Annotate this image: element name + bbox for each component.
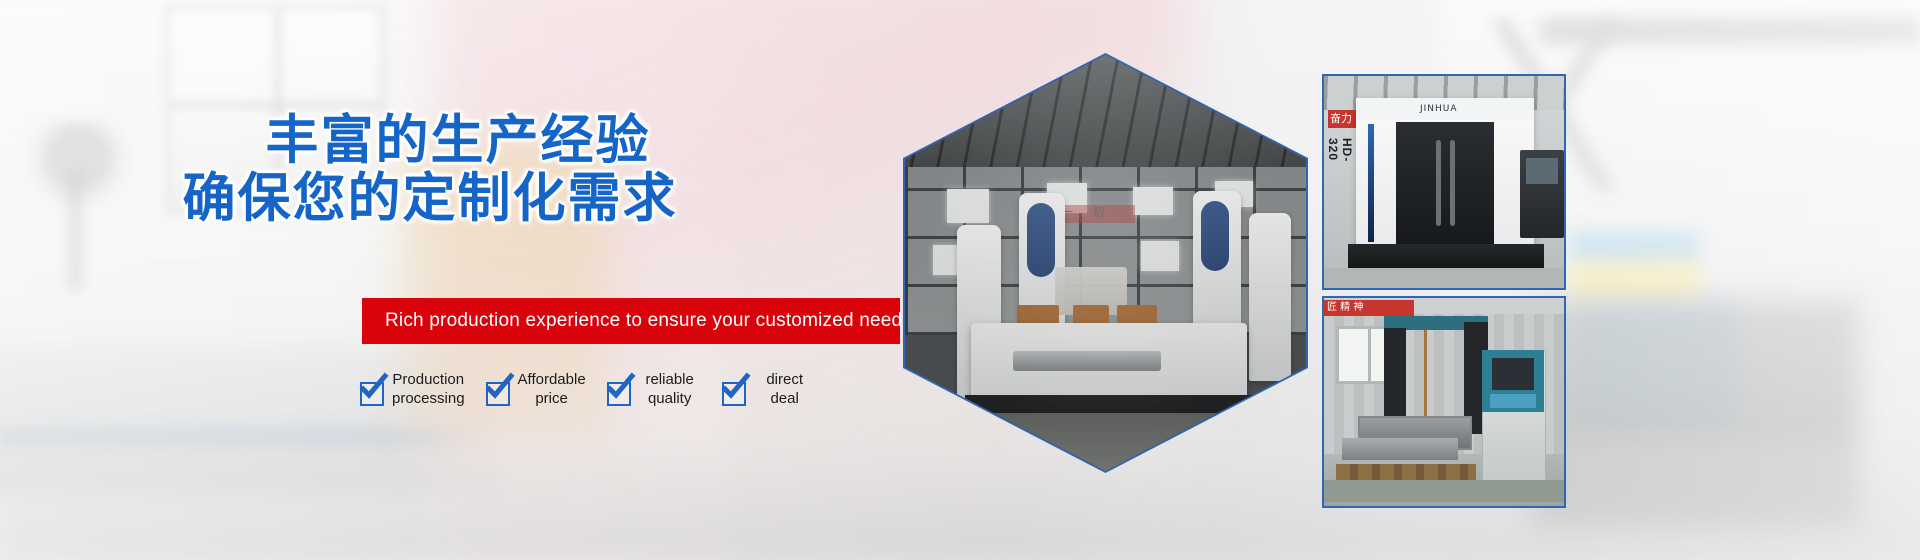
checkbox-checked-icon <box>722 382 746 406</box>
banner-copy: 丰富的生产经验 确保您的定制化需求 Rich production experi… <box>0 0 920 560</box>
feature-item: Productionprocessing <box>360 370 465 408</box>
subtitle-bar: Rich production experience to ensure you… <box>362 298 900 344</box>
feature-label: Productionprocessing <box>392 370 465 408</box>
subtitle-text: Rich production experience to ensure you… <box>362 310 912 332</box>
feature-list: Productionprocessing Affordableprice rel… <box>360 370 920 428</box>
headline: 丰富的生产经验 确保您的定制化需求 <box>0 112 860 228</box>
thumb1-model-label: HD-320 <box>1326 138 1354 182</box>
thumb1-machine-stripe <box>1368 124 1374 242</box>
thumbnail-stack: 奋力 JINHUA HD-320 匠 精 神 <box>1322 74 1562 504</box>
feature-label: Affordableprice <box>518 370 586 408</box>
thumb2-control-screen <box>1492 358 1534 390</box>
feature-label: reliablequality <box>639 370 701 408</box>
promo-banner: 丰富的生产经验 确保您的定制化需求 Rich production experi… <box>0 0 1920 560</box>
headline-line-2: 确保您的定制化需求 <box>0 170 860 228</box>
thumbnail-machining-center: 奋力 JINHUA HD-320 <box>1322 74 1566 290</box>
thumb2-work-table <box>1342 438 1458 460</box>
thumb2-floor <box>1324 480 1564 502</box>
feature-item: Affordableprice <box>486 370 586 408</box>
thumb1-floor <box>1324 268 1564 288</box>
headline-line-1: 丰富的生产经验 <box>0 112 860 170</box>
thumbnail-edm-machine: 匠 精 神 <box>1322 296 1566 508</box>
thumb2-control-keypad <box>1490 394 1536 408</box>
checkbox-checked-icon <box>360 382 384 406</box>
feature-item: directdeal <box>722 370 816 408</box>
thumb2-wall-banner-text: 匠 精 神 <box>1327 300 1363 316</box>
thumb1-brand-label: JINHUA <box>1420 104 1458 114</box>
feature-label: directdeal <box>754 370 816 408</box>
feature-item: reliablequality <box>607 370 701 408</box>
thumb1-control-screen <box>1526 158 1558 184</box>
thumb1-machine-door <box>1396 122 1494 244</box>
thumb2-cutting-wire <box>1424 330 1427 422</box>
thumb1-machine-base <box>1348 244 1544 270</box>
checkbox-checked-icon <box>607 382 631 406</box>
checkbox-checked-icon <box>486 382 510 406</box>
